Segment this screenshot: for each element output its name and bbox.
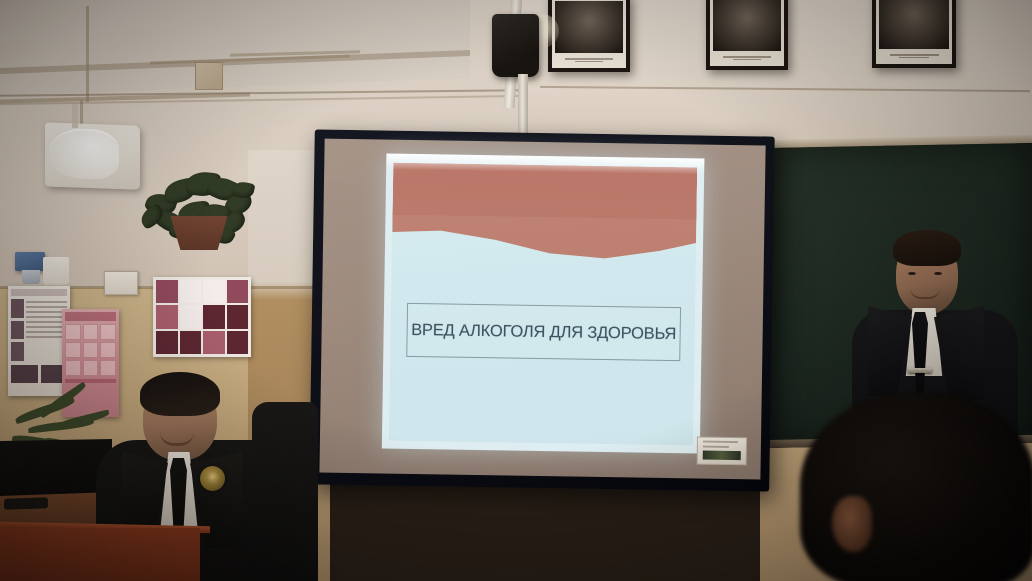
collage-tile (203, 331, 225, 354)
seated-student-uniform-badge (200, 466, 225, 491)
standing-student-eye-right (934, 272, 942, 275)
poster-header-bar (11, 289, 67, 296)
poster-grid (65, 324, 116, 376)
collage-tile (227, 280, 249, 303)
portrait-writer-3 (872, 0, 956, 68)
portrait-caption (713, 51, 781, 63)
poster-bottom-bar (65, 379, 116, 383)
collage-tile (227, 305, 249, 328)
foreground-silhouette-ear (832, 496, 872, 552)
collage-tile (156, 280, 178, 303)
poster-body (11, 299, 67, 361)
blue-wall-device-base (22, 270, 40, 284)
wall-outlet-box (195, 62, 223, 90)
fern-frond (54, 409, 110, 430)
seated-student-eye-right (189, 412, 198, 415)
collage-tile (180, 305, 202, 328)
portrait-image (879, 0, 949, 49)
collage-tile (180, 331, 202, 354)
board-sticker-graphic (703, 451, 741, 461)
blue-wall-device (15, 252, 45, 271)
projector-mount (492, 14, 539, 77)
wall-dispenser (45, 122, 140, 189)
slide-title: ВРЕД АЛКОГОЛЯ ДЛЯ ЗДОРОВЬЯ (411, 320, 676, 343)
collage-tile (203, 305, 225, 328)
collage-tile (156, 331, 178, 354)
collage-tile (156, 305, 178, 328)
wooden-desk (0, 528, 200, 581)
standing-student-hair (893, 230, 961, 266)
portrait-caption (879, 49, 949, 61)
portrait-writer-1 (548, 0, 630, 72)
dispenser-lens (49, 127, 119, 179)
desk-object (4, 497, 48, 510)
poster-footer-photos (11, 365, 67, 383)
presentation-slide: ВРЕД АЛКОГОЛЯ ДЛЯ ЗДОРОВЬЯ (389, 163, 697, 446)
poster-information-sheet (8, 286, 70, 396)
ceiling-pipe-vertical (86, 6, 89, 102)
foreground-silhouette (800, 392, 1032, 581)
portrait-caption (555, 53, 623, 65)
board-sticker (697, 436, 747, 465)
slide-wave-band (392, 163, 698, 273)
seated-student-hair (140, 372, 220, 416)
poster-title-bar (65, 312, 116, 321)
standing-student-eye-left (908, 272, 916, 275)
portrait-writer-2 (706, 0, 788, 70)
slide-wave-highlight (392, 215, 697, 266)
poster-text-lines (26, 299, 67, 361)
dispenser-stem (72, 104, 78, 128)
portrait-image (713, 0, 781, 51)
small-wall-sign (104, 271, 138, 295)
whiteboard-surface: ВРЕД АЛКОГОЛЯ ДЛЯ ЗДОРОВЬЯ (319, 139, 765, 480)
white-wall-container (43, 257, 69, 285)
fern-frond (38, 382, 87, 419)
seated-student-eye-left (157, 412, 166, 415)
standing-student-tie-clip (908, 368, 932, 373)
collage-tile (227, 331, 249, 354)
poster-thumbnails (11, 299, 24, 361)
collage-tile (180, 280, 202, 303)
badge-emblem (206, 471, 219, 485)
collage-tile (203, 280, 225, 303)
classroom-photo: ВРЕД АЛКОГОЛЯ ДЛЯ ЗДОРОВЬЯ (0, 0, 1032, 581)
slide-title-box: ВРЕД АЛКОГОЛЯ ДЛЯ ЗДОРОВЬЯ (406, 303, 681, 361)
portrait-image (555, 1, 623, 53)
poster-photo-collage (153, 277, 251, 357)
projected-slide-area: ВРЕД АЛКОГОЛЯ ДЛЯ ЗДОРОВЬЯ (382, 154, 705, 454)
whiteboard-frame: ВРЕД АЛКОГОЛЯ ДЛЯ ЗДОРОВЬЯ (309, 129, 775, 491)
